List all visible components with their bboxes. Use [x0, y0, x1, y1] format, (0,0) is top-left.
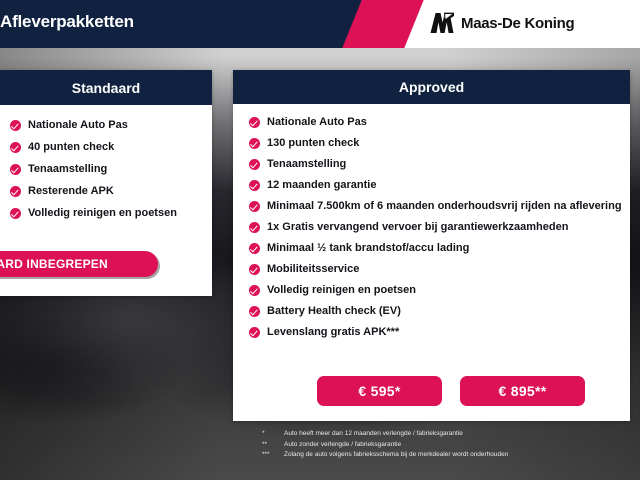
feature-label: 1x Gratis vervangend vervoer bij garanti…	[267, 221, 568, 234]
standaard-inbegrepen-button[interactable]: STANDAARD INBEGREPEN	[0, 251, 158, 277]
feature-label: Minimaal 7.500km of 6 maanden onderhouds…	[267, 200, 622, 213]
footnote-text: Auto heeft meer dan 12 maanden verlengde…	[284, 429, 463, 440]
feature-label: Battery Health check (EV)	[267, 305, 401, 318]
price-button-895[interactable]: € 895**	[460, 376, 585, 406]
list-item: 130 punten check	[249, 137, 622, 150]
footnote-text: Zolang de auto volgens fabrieksschema bi…	[284, 450, 508, 461]
check-circle-icon	[249, 201, 260, 212]
footnote-text: Auto zonder verlengde / fabrieksgarantie	[284, 440, 401, 451]
feature-label: Minimaal ½ tank brandstof/accu lading	[267, 242, 469, 255]
check-circle-icon	[249, 264, 260, 275]
card-title-standaard: Standaard	[0, 70, 212, 105]
feature-list-approved: Nationale Auto Pas 130 punten check Tena…	[233, 104, 630, 339]
list-item: Resterende APK	[10, 185, 202, 198]
list-item: Volledig reinigen en poetsen	[10, 207, 202, 220]
check-circle-icon	[249, 180, 260, 191]
check-circle-icon	[249, 117, 260, 128]
list-item: Nationale Auto Pas	[249, 116, 622, 129]
list-item: Volledig reinigen en poetsen	[249, 284, 622, 297]
list-item: Nationale Auto Pas	[10, 119, 202, 132]
card-title-approved-text: Approved	[399, 79, 464, 95]
check-circle-icon	[10, 208, 21, 219]
card-title-approved: Approved	[233, 70, 630, 104]
card-title-standaard-text: Standaard	[26, 80, 140, 96]
footnote-marker: *	[262, 429, 284, 440]
brand-logo: Maas-De Koning	[430, 12, 574, 34]
list-item: Tenaamstelling	[249, 158, 622, 171]
check-circle-icon	[249, 306, 260, 317]
check-circle-icon	[249, 222, 260, 233]
package-card-approved: Approved Nationale Auto Pas 130 punten c…	[233, 70, 630, 421]
footnote-marker: **	[262, 440, 284, 451]
check-circle-icon	[10, 164, 21, 175]
check-circle-icon	[249, 243, 260, 254]
feature-label: Nationale Auto Pas	[28, 119, 128, 132]
footnote-item: * Auto heeft meer dan 12 maanden verleng…	[262, 429, 508, 440]
feature-label: Volledig reinigen en poetsen	[267, 284, 416, 297]
feature-label: Volledig reinigen en poetsen	[28, 207, 177, 220]
footnote-item: ** Auto zonder verlengde / fabrieksgaran…	[262, 440, 508, 451]
list-item: 1x Gratis vervangend vervoer bij garanti…	[249, 221, 622, 234]
page-header: Afleverpakketten Maas-De Koning	[0, 0, 640, 48]
footnote-item: *** Zolang de auto volgens fabrieksschem…	[262, 450, 508, 461]
feature-label: Resterende APK	[28, 185, 114, 198]
feature-label: Tenaamstelling	[267, 158, 346, 171]
price-button-row: € 595* € 895**	[317, 376, 585, 406]
list-item: Minimaal 7.500km of 6 maanden onderhouds…	[249, 200, 622, 213]
check-circle-icon	[249, 159, 260, 170]
feature-label: 12 maanden garantie	[267, 179, 376, 192]
page-title: Afleverpakketten	[0, 12, 134, 32]
footnotes: * Auto heeft meer dan 12 maanden verleng…	[262, 429, 508, 461]
footnote-marker: ***	[262, 450, 284, 461]
feature-label: Nationale Auto Pas	[267, 116, 367, 129]
list-item: Levenslang gratis APK***	[249, 326, 622, 339]
brand-name: Maas-De Koning	[461, 15, 574, 32]
check-circle-icon	[249, 285, 260, 296]
feature-label: 130 punten check	[267, 137, 359, 150]
list-item: 40 punten check	[10, 141, 202, 154]
check-circle-icon	[249, 327, 260, 338]
list-item: Mobiliteitsservice	[249, 263, 622, 276]
feature-label: Tenaamstelling	[28, 163, 107, 176]
maas-de-koning-m-logo-icon	[430, 12, 454, 34]
feature-label: Mobiliteitsservice	[267, 263, 359, 276]
feature-list-standaard: Nationale Auto Pas 40 punten check Tenaa…	[0, 105, 212, 220]
check-circle-icon	[249, 138, 260, 149]
check-circle-icon	[10, 142, 21, 153]
check-circle-icon	[10, 186, 21, 197]
list-item: Tenaamstelling	[10, 163, 202, 176]
price-button-595[interactable]: € 595*	[317, 376, 442, 406]
check-circle-icon	[10, 120, 21, 131]
feature-label: Levenslang gratis APK***	[267, 326, 399, 339]
feature-label: 40 punten check	[28, 141, 114, 154]
list-item: Minimaal ½ tank brandstof/accu lading	[249, 242, 622, 255]
list-item: Battery Health check (EV)	[249, 305, 622, 318]
package-card-standaard: Standaard Nationale Auto Pas 40 punten c…	[0, 70, 212, 296]
list-item: 12 maanden garantie	[249, 179, 622, 192]
